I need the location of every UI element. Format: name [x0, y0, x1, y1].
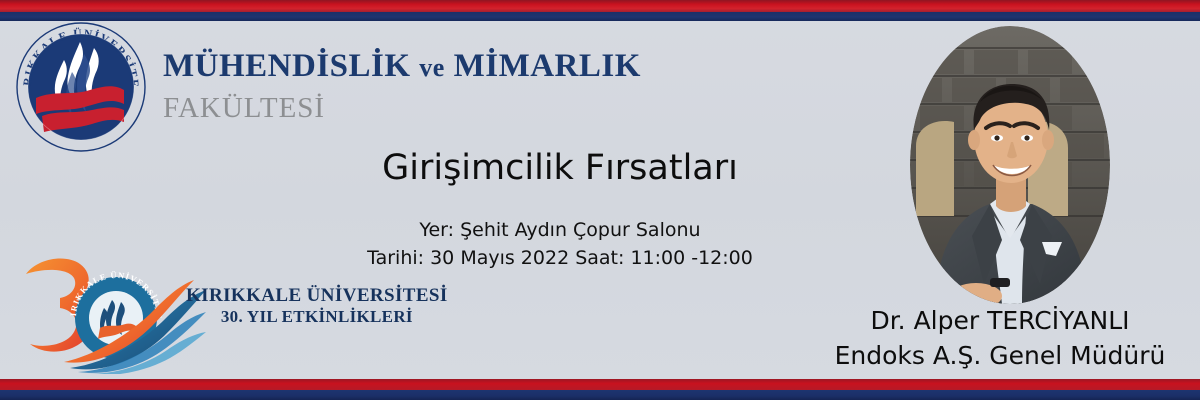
faculty-title-line2: FAKÜLTESİ	[163, 92, 325, 125]
anniversary-caption-line2: 30. YIL ETKİNLİKLERİ	[186, 307, 448, 327]
event-date-time: Tarihi: 30 Mayıs 2022 Saat: 11:00 -12:00	[300, 247, 820, 269]
top-navy-bar	[0, 12, 1200, 21]
bottom-navy-bar	[0, 390, 1200, 400]
university-seal-logo: KIRIKKALE ÜNİVERSİTESİ 1992	[14, 20, 148, 154]
speaker-portrait-photo	[910, 26, 1110, 304]
event-title: Girişimcilik Fırsatları	[300, 148, 820, 188]
faculty-title-connector: ve	[419, 53, 445, 82]
bottom-red-bar	[0, 379, 1200, 390]
event-venue: Yer: Şehit Aydın Çopur Salonu	[300, 219, 820, 241]
event-banner: KIRIKKALE ÜNİVERSİTESİ 1992 MÜHENDİSLİK	[0, 0, 1200, 400]
speaker-role: Endoks A.Ş. Genel Müdürü	[800, 341, 1200, 370]
speaker-name: Dr. Alper TERCİYANLI	[800, 306, 1200, 335]
faculty-title-part1: MÜHENDİSLİK	[163, 48, 411, 84]
faculty-title-line1: MÜHENDİSLİK ve MİMARLIK	[163, 48, 641, 85]
anniversary-caption-line1: KIRIKKALE ÜNİVERSİTESİ	[186, 285, 448, 307]
top-red-bar	[0, 0, 1200, 12]
anniversary-caption: KIRIKKALE ÜNİVERSİTESİ 30. YIL ETKİNLİKL…	[186, 285, 448, 327]
faculty-title-part2: MİMARLIK	[454, 48, 641, 84]
